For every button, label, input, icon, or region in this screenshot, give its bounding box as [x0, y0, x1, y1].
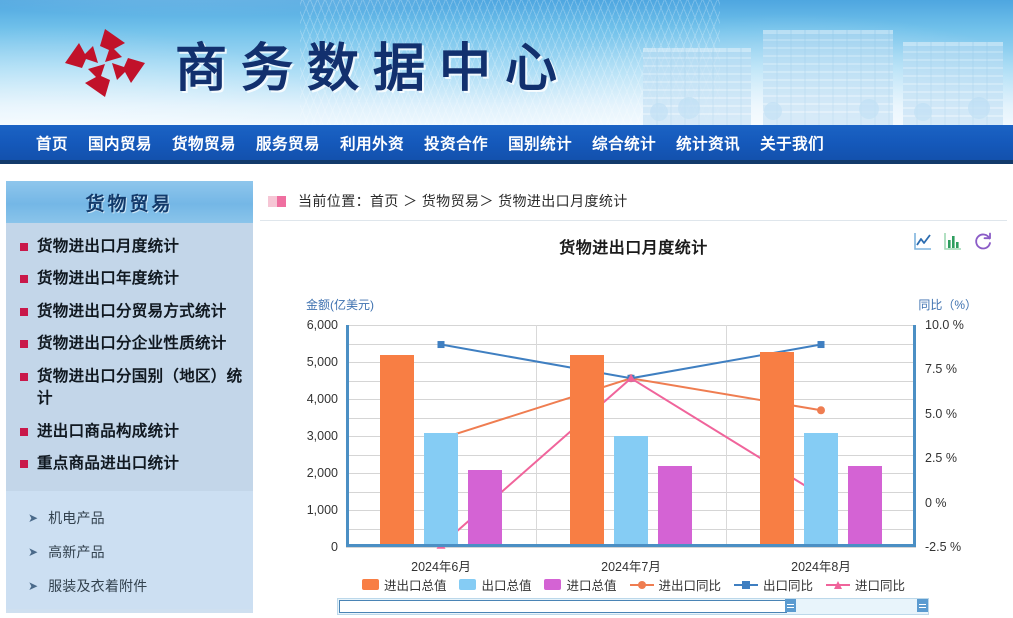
legend-label: 出口同比 — [763, 575, 813, 594]
bullet-square-icon — [20, 460, 28, 468]
sidebar-item-label: 重点商品进出口统计 — [37, 453, 179, 475]
bullet-square-icon — [20, 275, 28, 283]
y-axis-left-tick-label: 0 — [331, 540, 338, 554]
main-navigation: 首页 国内贸易 货物贸易 服务贸易 利用外资 投资合作 国别统计 综合统计 统计… — [0, 125, 1013, 164]
sidebar-item-label: 货物进出口分企业性质统计 — [37, 333, 227, 355]
banner-building-illustration — [623, 8, 1013, 125]
chart-header: 货物进出口月度统计 — [260, 226, 1007, 262]
sidebar-item-label: 货物进出口年度统计 — [37, 268, 179, 290]
swirl-logo-icon — [62, 26, 148, 100]
legend-item[interactable]: 进出口同比 — [630, 575, 722, 594]
legend-label: 进出口总值 — [384, 575, 447, 594]
bullet-square-icon — [20, 428, 28, 436]
nav-item-about-us[interactable]: 关于我们 — [750, 132, 834, 154]
line-chart-icon[interactable] — [913, 231, 933, 251]
nav-item-home[interactable]: 首页 — [26, 132, 78, 154]
sidebar-item-label: 货物进出口分贸易方式统计 — [37, 301, 227, 323]
legend-label: 进出口同比 — [659, 575, 722, 594]
sidebar-item-annual-stats[interactable]: 货物进出口年度统计 — [6, 263, 253, 295]
y-axis-right-tick-label: 2.5 % — [925, 451, 957, 465]
legend-swatch-icon — [459, 579, 476, 590]
legend-swatch-icon — [362, 579, 379, 590]
chart-plot-area: 01,0002,0003,0004,0005,0006,000 -2.5 %0 … — [346, 325, 916, 547]
chart-axis-frame — [346, 325, 916, 547]
y-axis-right-tick-label: -2.5 % — [925, 540, 961, 554]
site-title: 商务数据中心 — [175, 26, 571, 101]
nav-item-investment[interactable]: 投资合作 — [414, 132, 498, 154]
legend-item[interactable]: 出口同比 — [734, 575, 813, 594]
chart-toolbar — [913, 231, 993, 251]
legend-label: 进口同比 — [855, 575, 905, 594]
legend-line-swatch-icon — [630, 580, 654, 590]
nav-item-news[interactable]: 统计资讯 — [666, 132, 750, 154]
legend-label: 进口总值 — [566, 575, 616, 594]
page-root: 商务数据中心 首页 国内贸易 货物贸易 服务贸易 利用外资 投资合作 国别统计 … — [0, 0, 1013, 618]
y-axis-left-tick-label: 2,000 — [307, 466, 338, 480]
sidebar: 货物贸易 货物进出口月度统计 货物进出口年度统计 货物进出口分贸易方式统计 货物… — [6, 181, 253, 613]
nav-item-comprehensive[interactable]: 综合统计 — [582, 132, 666, 154]
sidebar-subitem-label: 机电产品 — [48, 508, 105, 528]
nav-item-service-trade[interactable]: 服务贸易 — [246, 132, 330, 154]
y-axis-right-tick-label: 7.5 % — [925, 362, 957, 376]
chart-range-scrollbar[interactable] — [337, 598, 929, 615]
sidebar-item-key-commodities[interactable]: 重点商品进出口统计 — [6, 448, 253, 480]
chart-panel: 货物进出口月度统计 金额(亿美元) 同比（%） — [260, 226, 1007, 614]
sidebar-subitem-hi-tech[interactable]: ➤ 高新产品 — [6, 535, 253, 569]
x-axis-tick-label: 2024年8月 — [791, 556, 851, 575]
sidebar-submenu: ➤ 机电产品 ➤ 高新产品 ➤ 服装及衣着附件 — [6, 491, 253, 609]
legend-line-swatch-icon — [734, 580, 758, 590]
nav-item-domestic-trade[interactable]: 国内贸易 — [78, 132, 162, 154]
nav-item-goods-trade[interactable]: 货物贸易 — [162, 132, 246, 154]
legend-item[interactable]: 进口同比 — [826, 575, 905, 594]
sidebar-header-label: 货物贸易 — [85, 189, 173, 216]
y-axis-left-tick-label: 3,000 — [307, 429, 338, 443]
bar-chart-icon[interactable] — [943, 231, 963, 251]
sidebar-subitem-electromechanical[interactable]: ➤ 机电产品 — [6, 501, 253, 535]
y-axis-right-tick-label: 5.0 % — [925, 407, 957, 421]
y-axis-left-tick-label: 6,000 — [307, 318, 338, 332]
legend-item[interactable]: 进口总值 — [544, 575, 616, 594]
legend-item[interactable]: 出口总值 — [459, 575, 531, 594]
nav-item-country-stats[interactable]: 国别统计 — [498, 132, 582, 154]
sidebar-item-monthly-stats[interactable]: 货物进出口月度统计 — [6, 231, 253, 263]
y-axis-left-tick-label: 5,000 — [307, 355, 338, 369]
y-axis-right-tick-label: 10.0 % — [925, 318, 964, 332]
scrollbar-left-handle[interactable] — [785, 599, 796, 612]
legend-label: 出口总值 — [481, 575, 531, 594]
x-axis-tick-label: 2024年7月 — [601, 556, 661, 575]
sidebar-header: 货物贸易 — [6, 181, 253, 223]
sidebar-item-by-enterprise-type[interactable]: 货物进出口分企业性质统计 — [6, 328, 253, 360]
y-axis-left-caption: 金额(亿美元) — [306, 296, 374, 313]
scrollbar-right-handle[interactable] — [917, 599, 928, 612]
y-axis-right-tick-label: 0 % — [925, 496, 947, 510]
y-axis-left-tick-label: 4,000 — [307, 392, 338, 406]
nav-item-foreign-capital[interactable]: 利用外资 — [330, 132, 414, 154]
bullet-square-icon — [20, 308, 28, 316]
sidebar-subitem-label: 高新产品 — [48, 542, 105, 562]
bullet-square-icon — [20, 243, 28, 251]
y-axis-left-tick-label: 1,000 — [307, 503, 338, 517]
sidebar-item-commodity-composition[interactable]: 进出口商品构成统计 — [6, 416, 253, 448]
x-axis-tick-label: 2024年6月 — [411, 556, 471, 575]
legend-swatch-icon — [544, 579, 561, 590]
chevron-right-icon: ➤ — [28, 545, 38, 559]
chart-title: 货物进出口月度统计 — [260, 234, 1007, 258]
chevron-right-icon: ➤ — [28, 579, 38, 593]
bullet-square-icon — [20, 340, 28, 348]
sidebar-item-by-trade-mode[interactable]: 货物进出口分贸易方式统计 — [6, 296, 253, 328]
refresh-icon[interactable] — [973, 231, 993, 251]
sidebar-item-label: 货物进出口分国别（地区）统计 — [37, 366, 247, 411]
legend-line-swatch-icon — [826, 580, 850, 590]
chart-legend: 进出口总值出口总值进口总值进出口同比出口同比进口同比 — [260, 575, 1007, 594]
breadcrumb-marker-icon — [268, 196, 286, 207]
sidebar-subitem-label: 服装及衣着附件 — [48, 576, 147, 596]
sidebar-menu: 货物进出口月度统计 货物进出口年度统计 货物进出口分贸易方式统计 货物进出口分企… — [6, 223, 253, 491]
bullet-square-icon — [20, 373, 28, 381]
scrollbar-track[interactable] — [339, 600, 787, 613]
sidebar-item-label: 货物进出口月度统计 — [37, 236, 179, 258]
breadcrumb: 当前位置：首页 ＞ 货物贸易＞ 货物进出口月度统计 — [260, 182, 1007, 221]
sidebar-item-by-country[interactable]: 货物进出口分国别（地区）统计 — [6, 361, 253, 416]
sidebar-item-label: 进出口商品构成统计 — [37, 421, 179, 443]
breadcrumb-text: 当前位置：首页 ＞ 货物贸易＞ 货物进出口月度统计 — [298, 191, 628, 211]
sidebar-subitem-apparel[interactable]: ➤ 服装及衣着附件 — [6, 569, 253, 603]
y-axis-right-caption: 同比（%） — [918, 296, 977, 313]
site-banner: 商务数据中心 — [0, 0, 1013, 125]
legend-item[interactable]: 进出口总值 — [362, 575, 447, 594]
chevron-right-icon: ➤ — [28, 511, 38, 525]
